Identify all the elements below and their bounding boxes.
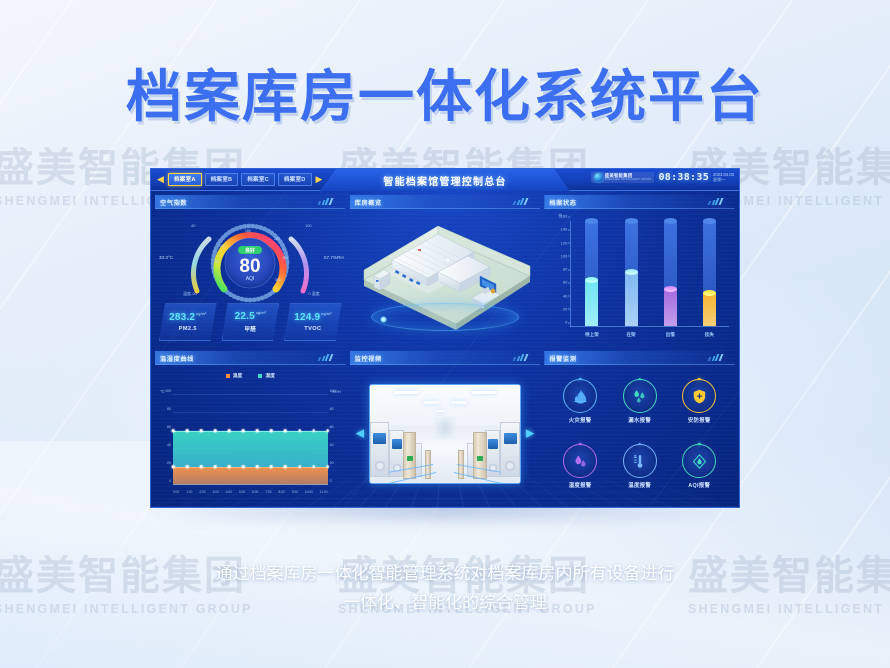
panel-decoration-icon — [707, 354, 722, 361]
aqi-gauge: 良好 80 AQI 100 50 150 200 250 300 — [175, 215, 325, 307]
gauge-value: 80 — [240, 256, 261, 277]
alarm-label: AQI报警 — [688, 481, 710, 489]
panel-temp-humidity: 温湿度曲线 温度 湿度 ℃ %RH — [155, 351, 346, 503]
temp-humidity-plot: 002020404060608080100100 — [173, 395, 328, 485]
metric-value: 22.5ug/m³ — [235, 312, 266, 322]
brand-text: 盛美智能集团 SHENGMEI INTELLIGENT GROUP — [605, 174, 652, 182]
x-axis-label: 挂失 — [696, 332, 722, 338]
temperature-data-point — [312, 466, 315, 469]
exit-sign-icon — [407, 456, 413, 460]
tab-room-c[interactable]: 档案室C — [241, 173, 275, 186]
x-axis-label: 待上架 — [579, 332, 605, 338]
next-room-arrow-icon[interactable]: ▶ — [315, 172, 324, 186]
dashboard-title-plate: 智能档案馆管理控制总台 — [320, 169, 570, 191]
archive-shelf-right — [500, 422, 520, 477]
bar-value — [585, 280, 598, 326]
panel-header: 档案状态 — [544, 195, 735, 209]
y-axis-tick: 100 — [561, 253, 568, 258]
humidity-data-point — [200, 430, 203, 433]
bar-value — [703, 293, 716, 326]
ceiling-light — [424, 401, 440, 404]
shelf-handwheel-icon — [375, 461, 385, 471]
panel-header: 空气指数 — [155, 195, 346, 209]
x-axis — [173, 484, 328, 485]
y-axis-tick: 80 — [563, 267, 567, 272]
humidity-data-point — [270, 430, 273, 433]
panel-body: 温度 湿度 ℃ %RH 002020404060608080100100 0:0… — [155, 365, 346, 503]
prev-room-arrow-icon[interactable]: ◀ — [156, 172, 165, 186]
archive-status-chart: 份 020406080100120140160 待上架在架出借挂失 — [544, 209, 735, 347]
video-prev-arrow-icon[interactable]: ◀ — [356, 429, 364, 440]
brand-logo: 盛美智能集团 SHENGMEI INTELLIGENT GROUP — [591, 172, 655, 183]
panel-decoration-icon — [512, 354, 527, 361]
y-axis-unit-left: ℃ — [160, 389, 165, 394]
y-axis-tick: 100 — [330, 389, 336, 393]
y-axis-tick: 80 — [330, 407, 334, 411]
y-axis-tick: 140 — [561, 227, 568, 232]
panel-title-archive-status: 档案状态 — [549, 195, 576, 209]
alarm-item-shield[interactable]: 安防报警 — [682, 379, 716, 424]
panel-alarm-monitor: 报警监测 火灾报警漏水报警安防报警湿度报警温度报警AQI报警 — [544, 351, 735, 503]
humidity-data-point — [242, 430, 245, 433]
metric-unit: ug/m³ — [321, 312, 331, 316]
alarm-ring — [623, 444, 657, 478]
bar-column[interactable] — [625, 221, 638, 326]
caption-line-1: 通过档案库房一体化智能管理系统对档案库房内所有设备进行 — [0, 560, 890, 589]
panel-title-alarm-monitor: 报警监测 — [549, 351, 576, 365]
panel-decoration-icon — [707, 198, 722, 205]
alarm-label: 湿度报警 — [569, 481, 592, 489]
warehouse-base-ring — [371, 303, 519, 331]
bar-column[interactable] — [703, 221, 716, 326]
x-axis-label: 11:00 — [320, 490, 328, 494]
page-title: 档案库房一体化系统平台 — [0, 52, 890, 133]
y-axis-tick: 120 — [561, 240, 568, 245]
shelf-display-panel — [504, 433, 517, 445]
humidity-data-point — [284, 430, 287, 433]
tab-room-a[interactable]: 档案室A — [168, 173, 202, 186]
corridor-pillar — [473, 432, 487, 479]
x-axis-label: 3:00 — [213, 490, 219, 494]
x-axis-label: 在架 — [618, 332, 644, 338]
panel-header: 温湿度曲线 — [155, 351, 346, 365]
temperature-area — [173, 467, 328, 485]
y-axis-tick: 20 — [330, 461, 334, 465]
alarm-item-thermometer[interactable]: 温度报警 — [623, 444, 657, 489]
alarm-item-fire[interactable]: 火灾报警 — [563, 379, 597, 424]
panel-body: 33.3°C 57.7%RH 40 100 温度-20 0 湿度 — [155, 209, 346, 347]
metric-card-pm25: 283.2ug/m³ PM2.5 — [159, 303, 217, 341]
dashboard-screen: 智能档案馆管理控制总台 ◀ 档案室A 档案室B 档案室C 档案室D ▶ 盛美智能… — [150, 168, 740, 508]
aqi-gauge-zone: 33.3°C 57.7%RH 40 100 温度-20 0 湿度 — [155, 211, 346, 303]
panel-header: 报警监测 — [544, 351, 735, 365]
panel-warehouse-overview: 库房概览 — [350, 195, 541, 347]
gauge-scale-label: 50 — [215, 260, 219, 264]
legend-swatch-temperature — [226, 374, 230, 378]
video-next-arrow-icon[interactable]: ▶ — [526, 429, 534, 440]
gauge-scale-label: 200 — [274, 237, 280, 241]
dashboard-panel-grid: 空气指数 33.3°C 57.7%RH 40 100 温度-20 0 湿度 — [155, 195, 735, 503]
y-axis: 020406080100120140160 — [570, 221, 571, 327]
x-axis-label: 5:00 — [239, 490, 245, 494]
panel-decoration-icon — [512, 198, 527, 205]
alarm-ring — [682, 444, 716, 478]
panel-title-temp-humidity: 温湿度曲线 — [160, 351, 194, 365]
humidity-data-point — [172, 430, 175, 433]
humidity-data-point — [256, 430, 259, 433]
dashboard-title: 智能档案馆管理控制总台 — [383, 173, 506, 188]
metric-card-formaldehyde: 22.5ug/m³ 甲醛 — [222, 303, 280, 341]
temperature-data-point — [298, 466, 301, 469]
chart-legend: 温度 湿度 — [155, 372, 346, 379]
x-axis-label: 7:00 — [265, 490, 271, 494]
caption-block: 通过档案库房一体化智能管理系统对档案库房内所有设备进行 一体化、智能化的综合管理 — [0, 560, 890, 618]
bar-column[interactable] — [664, 221, 677, 326]
humidity-data-point — [186, 430, 189, 433]
temperature-data-point — [186, 466, 189, 469]
alarm-ring — [563, 379, 597, 413]
gauge-scale-label: 150 — [245, 229, 251, 233]
humidity-data-point — [326, 430, 329, 433]
shelf-display-panel — [392, 439, 402, 449]
panel-video-monitor: 监控视频 ◀ — [350, 351, 541, 503]
brand-mark-icon — [594, 173, 603, 182]
y-axis-tick: 0 — [565, 320, 567, 325]
y-axis-tick: 60 — [330, 425, 334, 429]
dashboard-header: 智能档案馆管理控制总台 ◀ 档案室A 档案室B 档案室C 档案室D ▶ 盛美智能… — [151, 169, 739, 191]
thermometer-icon — [631, 453, 648, 470]
y-axis-tick: 80 — [167, 407, 171, 411]
warehouse-highlight-dot — [380, 316, 387, 323]
y-axis-tick: 100 — [165, 389, 171, 393]
panel-title-air-quality: 空气指数 — [160, 195, 187, 209]
gauge-unit: AQI — [246, 276, 255, 282]
legend-swatch-humidity — [258, 374, 262, 378]
y-axis-tick: 0 — [330, 479, 332, 483]
tab-room-d[interactable]: 档案室D — [278, 173, 312, 186]
bar-value — [625, 272, 638, 326]
y-axis-tick: 0 — [169, 479, 171, 483]
alarm-ring — [563, 444, 597, 478]
metric-label: PM2.5 — [179, 326, 197, 332]
dashboard-header-right: 盛美智能集团 SHENGMEI INTELLIGENT GROUP 08:38:… — [591, 172, 734, 183]
panel-air-quality: 空气指数 33.3°C 57.7%RH 40 100 温度-20 0 湿度 — [155, 195, 346, 347]
alarm-item-aqi[interactable]: AQI报警 — [682, 444, 716, 489]
alarm-ring — [623, 379, 657, 413]
panel-title-video-monitor: 监控视频 — [355, 351, 382, 365]
gauge-humidity-value: 57.7%RH — [324, 255, 344, 260]
x-axis-label: 10:00 — [305, 490, 313, 494]
ceiling-light — [451, 401, 467, 404]
humidity-icon — [572, 453, 589, 470]
x-axis-label: 1:00 — [186, 490, 192, 494]
gauge-scale-label: 250 — [282, 256, 288, 260]
corridor-vanishing-point — [434, 417, 456, 439]
temperature-data-point — [242, 466, 245, 469]
y-axis-tick: 60 — [167, 425, 171, 429]
metric-label: 甲醛 — [244, 325, 256, 333]
humidity-data-point — [312, 430, 315, 433]
temperature-data-point — [270, 466, 273, 469]
x-axis-label: 8:00 — [279, 490, 285, 494]
corridor-pillar — [403, 432, 417, 479]
y-axis-tick: 20 — [167, 461, 171, 465]
shelf-display-panel — [373, 433, 386, 445]
water-drop-icon — [631, 388, 648, 405]
alarm-item-water-drop[interactable]: 漏水报警 — [623, 379, 657, 424]
alarm-label: 火灾报警 — [569, 416, 592, 424]
archive-shelf-left — [370, 422, 390, 477]
weekday-value: 星期一 — [713, 178, 734, 183]
x-axis-label: 4:00 — [226, 490, 232, 494]
legend-label-temperature: 温度 — [233, 372, 243, 379]
gridline — [173, 394, 328, 395]
y-axis-tick: 160 — [561, 214, 568, 219]
room-tab-bar: ◀ 档案室A 档案室B 档案室C 档案室D ▶ — [156, 172, 324, 186]
shelf-display-panel — [488, 439, 498, 449]
temperature-data-point — [256, 466, 259, 469]
metric-label: TVOC — [304, 326, 321, 332]
humidity-data-point — [228, 430, 231, 433]
date-display: 2023.04.03 星期一 — [713, 173, 734, 183]
gridline — [173, 412, 328, 413]
dashboard-container: 智能档案馆管理控制总台 ◀ 档案室A 档案室B 档案室C 档案室D ▶ 盛美智能… — [150, 168, 740, 508]
gauge-status-badge: 良好 — [245, 247, 255, 254]
metric-unit: ug/m³ — [256, 311, 266, 315]
metric-value: 124.9ug/m³ — [294, 313, 331, 323]
y-axis-tick: 20 — [563, 306, 567, 311]
bar-value — [664, 289, 677, 326]
temperature-data-point — [284, 466, 287, 469]
brand-name-en: SHENGMEI INTELLIGENT GROUP — [605, 179, 652, 182]
temperature-data-point — [228, 466, 231, 469]
panel-title-warehouse-overview: 库房概览 — [355, 195, 382, 209]
panel-archive-status: 档案状态 份 020406080100120140160 待上架在架出借挂失 — [544, 195, 735, 347]
aqi-icon — [691, 453, 708, 470]
x-axis-label: 6:00 — [252, 490, 258, 494]
temperature-data-point — [172, 466, 175, 469]
bar-series — [572, 221, 729, 326]
x-axis-label: 2:00 — [199, 490, 205, 494]
y-axis-tick: 40 — [563, 293, 567, 298]
x-axis — [570, 326, 729, 327]
metric-unit: ug/m³ — [196, 312, 206, 316]
ceiling-light — [393, 391, 419, 394]
alarm-grid: 火灾报警漏水报警安防报警湿度报警温度报警AQI报警 — [550, 369, 729, 499]
temperature-data-point — [200, 466, 203, 469]
alarm-label: 安防报警 — [688, 416, 711, 424]
alarm-ring — [682, 379, 716, 413]
x-axis-label: 9:00 — [292, 490, 298, 494]
shield-icon — [691, 388, 708, 405]
metric-card-tvoc: 124.9ug/m³ TVOC — [284, 303, 342, 341]
caption-line-2: 一体化、智能化的综合管理 — [0, 589, 890, 618]
bar-column[interactable] — [585, 221, 598, 326]
ceiling-light — [471, 391, 497, 394]
temperature-data-point — [214, 466, 217, 469]
y-axis-tick: 40 — [330, 443, 334, 447]
video-player-wrap: ◀ — [350, 365, 541, 503]
air-metric-cards: 283.2ug/m³ PM2.5 22.5ug/m³ 甲醛 124.9ug/m³… — [159, 303, 342, 341]
panel-header: 库房概览 — [350, 195, 541, 209]
panel-body: ◀ — [350, 365, 541, 503]
clock-display: 08:38:35 — [658, 172, 709, 183]
fire-icon — [572, 388, 589, 405]
temperature-data-point — [326, 466, 329, 469]
y-axis-tick: 40 — [167, 443, 171, 447]
video-feed[interactable] — [369, 384, 521, 484]
panel-header: 监控视频 — [350, 351, 541, 365]
x-axis-label: 出借 — [657, 332, 683, 338]
tab-room-b[interactable]: 档案室B — [205, 173, 239, 186]
panel-body: 份 020406080100120140160 待上架在架出借挂失 — [544, 209, 735, 347]
gauge-scale-label: 300 — [275, 278, 281, 282]
panel-body — [350, 209, 541, 347]
exit-sign-icon — [477, 456, 483, 460]
legend-item-humidity[interactable]: 湿度 — [258, 372, 275, 379]
x-axis-labels: 待上架在架出借挂失 — [572, 330, 729, 340]
alarm-item-humidity[interactable]: 湿度报警 — [563, 444, 597, 489]
gauge-temperature-value: 33.3°C — [159, 255, 173, 260]
humidity-data-point — [214, 430, 217, 433]
x-axis-label: 0:00 — [173, 490, 179, 494]
legend-item-temperature[interactable]: 温度 — [226, 372, 243, 379]
x-axis-labels: 0:001:002:003:004:005:006:007:008:009:00… — [173, 487, 328, 496]
gauge-scale-label: 100 — [219, 244, 225, 248]
alarm-label: 温度报警 — [628, 481, 651, 489]
metric-value: 283.2ug/m³ — [169, 313, 206, 323]
alarm-label: 漏水报警 — [628, 416, 651, 424]
y-axis-tick: 60 — [563, 280, 567, 285]
legend-label-humidity: 湿度 — [265, 372, 275, 379]
humidity-data-point — [298, 430, 301, 433]
panel-body: 火灾报警漏水报警安防报警湿度报警温度报警AQI报警 — [544, 365, 735, 503]
shelf-handwheel-icon — [505, 461, 515, 471]
